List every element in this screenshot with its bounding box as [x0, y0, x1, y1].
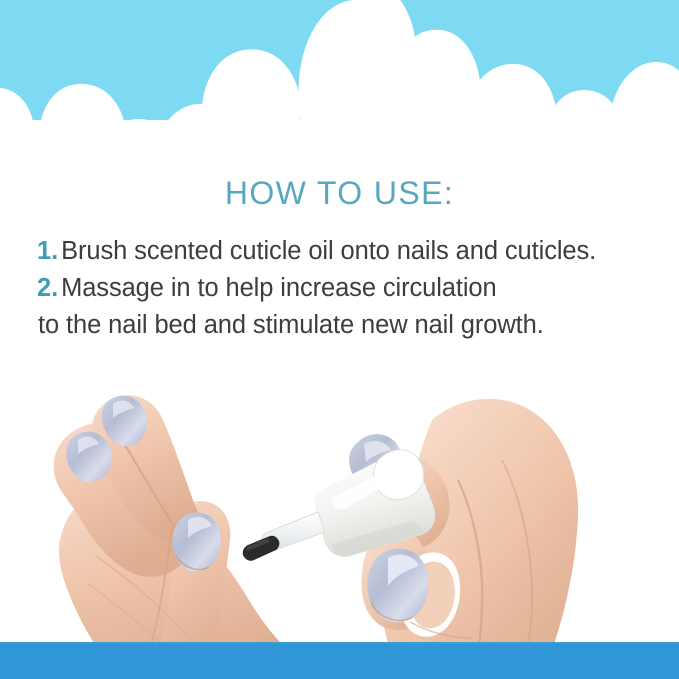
cloud-puff-5	[202, 49, 301, 172]
step-1-number: 1.	[37, 237, 58, 265]
step-2: 2.Massage in to help increase circulatio…	[0, 270, 679, 307]
step-2-line-2: to the nail bed and stimulate new nail g…	[0, 307, 679, 344]
page-title: HOW TO USE:	[0, 176, 679, 233]
cloud-illustration	[0, 0, 679, 172]
step-1: 1.Brush scented cuticle oil onto nails a…	[0, 233, 679, 270]
product-instruction-graphic: HOW TO USE: 1.Brush scented cuticle oil …	[0, 0, 679, 679]
step-2-number: 2.	[37, 274, 58, 302]
bottom-accent-bar-edge	[0, 642, 679, 644]
hands-illustration	[0, 360, 679, 679]
cloud-puff-7	[390, 30, 481, 172]
step-2-text-continued: to the nail bed and stimulate new nail g…	[38, 311, 544, 339]
instructions-block: HOW TO USE: 1.Brush scented cuticle oil …	[0, 176, 679, 343]
bottom-accent-bar	[0, 642, 679, 679]
left-index-nail-group	[173, 512, 221, 571]
step-2-text: Massage in to help increase circulation	[61, 274, 497, 302]
sky-cloud-banner	[0, 0, 679, 172]
step-1-text: Brush scented cuticle oil onto nails and…	[61, 237, 596, 265]
hands-photo	[0, 360, 679, 679]
